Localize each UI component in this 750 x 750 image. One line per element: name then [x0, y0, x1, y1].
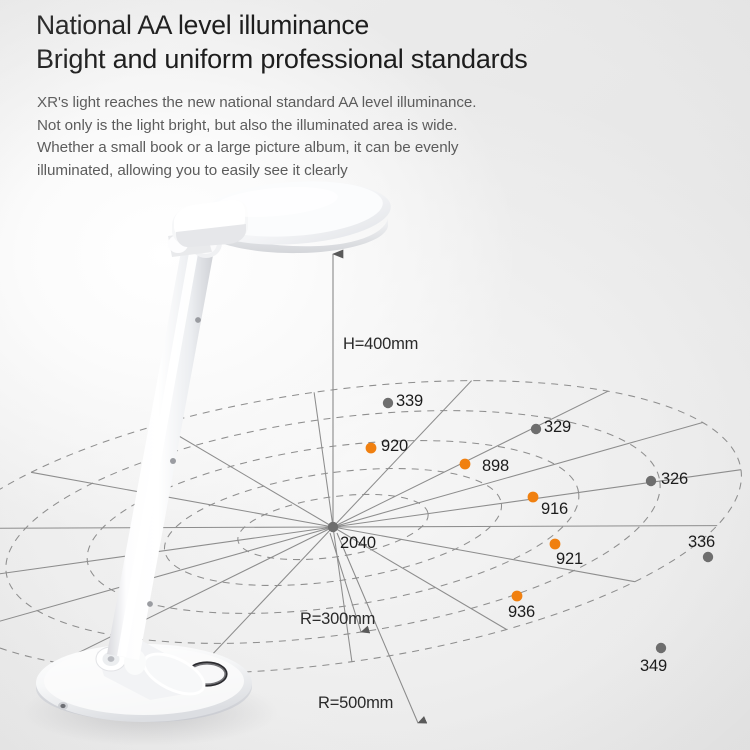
measurement-label-339: 339: [396, 392, 423, 411]
measurement-label-921: 921: [556, 550, 583, 569]
measurement-label-349: 349: [640, 657, 667, 676]
measurement-label-898: 898: [482, 457, 509, 476]
radius-300-label: R=300mm: [300, 610, 375, 629]
measurement-label-326: 326: [661, 470, 688, 489]
measurement-label-920: 920: [381, 437, 408, 456]
measurement-label-916: 916: [541, 500, 568, 519]
diagram-label-layer: 2040 H=400mm R=300mm R=500mm 33992032989…: [0, 0, 750, 750]
radius-500-label: R=500mm: [318, 694, 393, 713]
measurement-label-336: 336: [688, 533, 715, 552]
measurement-label-936: 936: [508, 603, 535, 622]
measurement-label-329: 329: [544, 418, 571, 437]
center-value-label: 2040: [340, 534, 376, 553]
height-dimension-label: H=400mm: [343, 335, 418, 354]
